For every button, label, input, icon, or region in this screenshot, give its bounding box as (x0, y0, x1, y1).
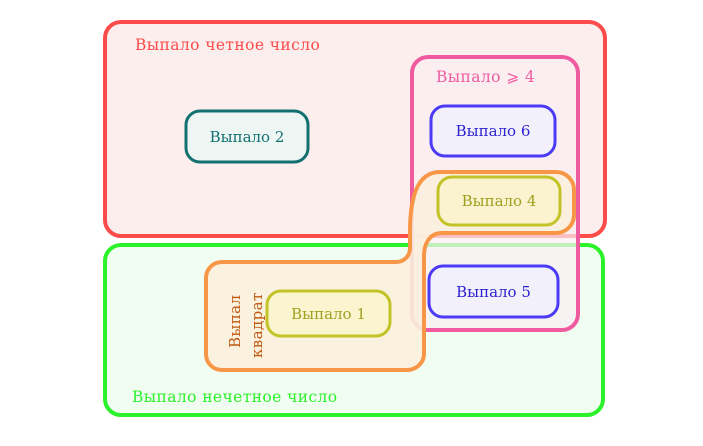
set-label-square-line2: квадрат (248, 292, 266, 358)
set-label-square-line1: Выпал (226, 295, 244, 348)
set-label-odd: Выпало нечетное число (132, 388, 338, 406)
outcome-label-four: Выпало 4 (438, 177, 560, 225)
outcome-label-five: Выпало 5 (429, 266, 558, 317)
set-label-ge4: Выпало ⩾ 4 (436, 68, 535, 86)
venn-diagram-canvas: Выпало четное число Выпало ⩾ 4 Выпало не… (0, 0, 703, 446)
diagram-shapes-layer (0, 0, 703, 446)
set-label-even: Выпало четное число (135, 36, 320, 54)
outcome-label-two: Выпало 2 (186, 111, 308, 162)
outcome-label-six: Выпало 6 (431, 106, 555, 156)
outcome-label-one: Выпало 1 (267, 291, 390, 336)
